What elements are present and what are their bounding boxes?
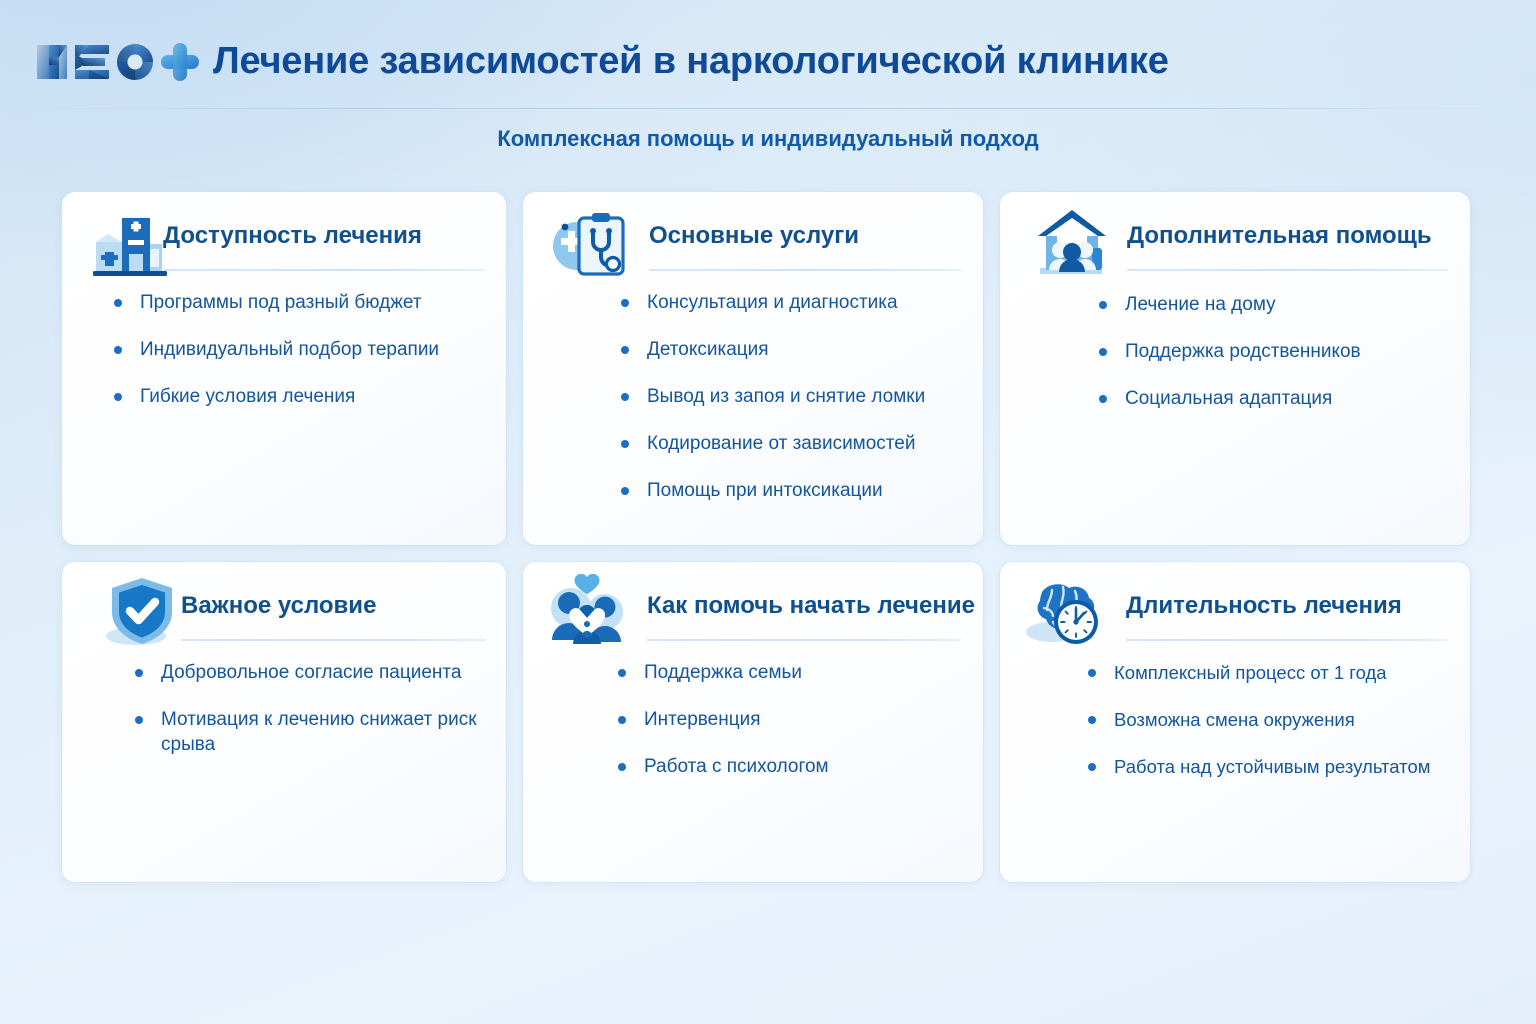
card-header: Дополнительная помощь xyxy=(1000,192,1470,284)
title-divider xyxy=(181,639,486,641)
shield-check-icon xyxy=(100,574,184,650)
card-additional-help: Дополнительная помощь Лечение на дому По… xyxy=(1000,192,1470,545)
page-title: Лечение зависимостей в наркологической к… xyxy=(213,40,1169,83)
bullet-list: Консультация и диагностика Детоксикация … xyxy=(618,290,965,525)
card-title: Как помочь начать лечение xyxy=(647,592,975,620)
brain-clock-icon xyxy=(1022,576,1106,652)
infographic-page: Лечение зависимостей в наркологической к… xyxy=(0,0,1536,1024)
title-divider xyxy=(1127,269,1448,271)
card-title: Важное условие xyxy=(181,592,376,620)
bullet-list: Комплексный процесс от 1 года Возможна с… xyxy=(1085,660,1456,801)
home-family-icon xyxy=(1030,204,1114,280)
list-item: Мотивация к лечению снижает риск срыва xyxy=(132,707,488,757)
card-header: Важное условие xyxy=(62,562,506,654)
title-divider xyxy=(649,269,961,271)
list-item: Вывод из запоя и снятие ломки xyxy=(618,384,965,409)
list-item: Поддержка семьи xyxy=(615,660,965,685)
card-how-to-start: Как помочь начать лечение Поддержка семь… xyxy=(523,562,983,882)
list-item: Возможна смена окружения xyxy=(1085,707,1456,732)
list-item: Лечение на дому xyxy=(1096,292,1452,317)
list-item: Программы под разный бюджет xyxy=(111,290,486,315)
card-important-condition: Важное условие Добровольное согласие пац… xyxy=(62,562,506,882)
list-item: Работа над устойчивым результатом xyxy=(1085,754,1456,779)
title-divider xyxy=(1126,639,1448,641)
title-divider xyxy=(647,639,961,641)
list-item: Помощь при интоксикации xyxy=(618,478,965,503)
list-item: Комплексный процесс от 1 года xyxy=(1085,660,1456,685)
list-item: Интервенция xyxy=(615,707,965,732)
card-header: Длительность лечения xyxy=(1000,562,1470,654)
list-item: Консультация и диагностика xyxy=(618,290,965,315)
bullet-list: Добровольное согласие пациента Мотивация… xyxy=(132,660,488,779)
card-header: Основные услуги xyxy=(523,192,983,284)
card-title: Длительность лечения xyxy=(1126,592,1402,620)
family-heart-icon xyxy=(545,574,629,650)
list-item: Социальная адаптация xyxy=(1096,386,1452,411)
bullet-list: Программы под разный бюджет Индивидуальн… xyxy=(111,290,486,431)
card-header: Доступность лечения xyxy=(62,192,506,284)
clipboard-stethoscope-icon xyxy=(547,208,631,284)
page-subtitle: Комплексная помощь и индивидуальный подх… xyxy=(0,126,1536,152)
card-title: Доступность лечения xyxy=(163,222,422,250)
page-header: Лечение зависимостей в наркологической к… xyxy=(0,0,1536,108)
list-item: Кодирование от зависимостей xyxy=(618,431,965,456)
card-main-services: Основные услуги Консультация и диагности… xyxy=(523,192,983,545)
list-item: Индивидуальный подбор терапии xyxy=(111,337,486,362)
list-item: Поддержка родственников xyxy=(1096,339,1452,364)
title-divider xyxy=(163,269,486,271)
bullet-list: Поддержка семьи Интервенция Работа с пси… xyxy=(615,660,965,801)
neo-plus-logo xyxy=(33,37,201,87)
cards-grid: Доступность лечения Программы под разный… xyxy=(62,192,1474,882)
card-title: Основные услуги xyxy=(649,222,859,250)
list-item: Добровольное согласие пациента xyxy=(132,660,488,685)
card-header: Как помочь начать лечение xyxy=(523,562,983,654)
list-item: Детоксикация xyxy=(618,337,965,362)
hospital-icon xyxy=(88,206,172,282)
card-treatment-duration: Длительность лечения Комплексный процесс… xyxy=(1000,562,1470,882)
card-title: Дополнительная помощь xyxy=(1127,222,1432,250)
header-divider xyxy=(0,108,1536,109)
list-item: Гибкие условия лечения xyxy=(111,384,486,409)
list-item: Работа с психологом xyxy=(615,754,965,779)
bullet-list: Лечение на дому Поддержка родственников … xyxy=(1096,292,1452,433)
card-accessibility: Доступность лечения Программы под разный… xyxy=(62,192,506,545)
